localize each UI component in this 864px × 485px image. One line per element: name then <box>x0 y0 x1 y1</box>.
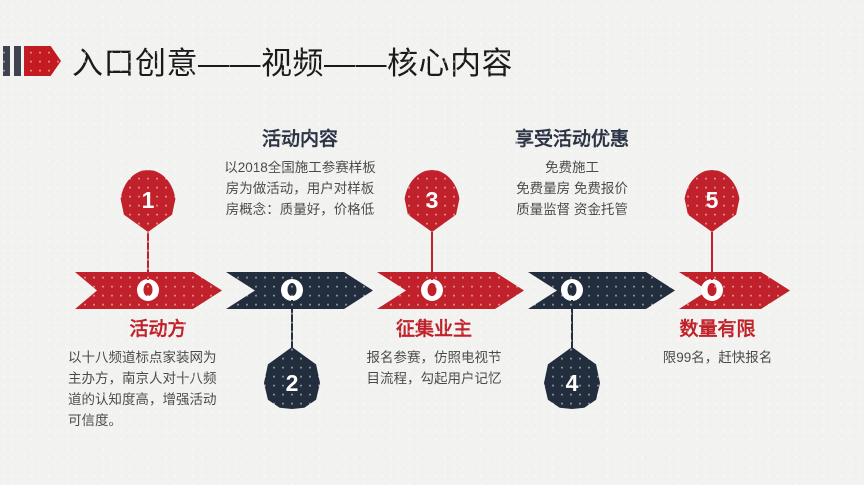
bar-marker-3-dot-icon <box>428 283 437 296</box>
pin-3-number: 3 <box>404 172 460 228</box>
pin-marker-5[interactable]: 5 <box>684 170 740 232</box>
bar-marker-4-dot-icon <box>568 283 577 296</box>
step-title-activity-content: 活动内容 <box>192 128 408 152</box>
pin-4-stem <box>571 300 573 350</box>
bar-marker-5-icon <box>701 279 723 301</box>
step-content-block-benefits: 享受活动优惠 免费施工 免费量房 免费报价 质量监督 资金托管 <box>466 128 678 221</box>
pin-marker-3[interactable]: 3 <box>404 170 460 232</box>
pin-4-number: 4 <box>544 355 600 411</box>
chevron-step-3[interactable] <box>377 272 524 309</box>
step-body-activity-content: 以2018全国施工参赛样板 房为做活动，用户对样板 房概念：质量好，价格低 <box>192 158 408 221</box>
pin-5-number: 5 <box>684 172 740 228</box>
header-red-arrow-icon <box>24 46 61 76</box>
page-header: 入口创意——视频——核心内容 <box>0 20 864 68</box>
pin-5-stem <box>711 232 713 280</box>
step-content-block-activity-content: 活动内容 以2018全国施工参赛样板 房为做活动，用户对样板 房概念：质量好，价… <box>192 128 408 221</box>
bar-marker-1-dot-icon <box>144 283 153 296</box>
step-body-recruit: 报名参赛，仿照电视节 目流程，勾起用户记忆 <box>344 348 524 390</box>
step-body-benefits: 免费施工 免费量房 免费报价 质量监督 资金托管 <box>466 158 678 221</box>
pin-2-stem <box>291 300 293 350</box>
step-title-limited: 数量有限 <box>625 318 810 342</box>
header-decor-bar-right-icon <box>14 46 21 76</box>
step-title-benefits: 享受活动优惠 <box>466 128 678 152</box>
step-title-recruit: 征集业主 <box>344 318 524 342</box>
pin-marker-4[interactable]: 4 <box>544 347 600 409</box>
pin-2-number: 2 <box>264 355 320 411</box>
pin-1-number: 1 <box>120 172 176 228</box>
page-title: 入口创意——视频——核心内容 <box>72 38 513 83</box>
bar-marker-5-dot-icon <box>708 283 717 296</box>
step-body-organizer: 以十八频道标点家装网为 主办方，南京人对十八频 道的认知度高，增强活动 可信度。 <box>68 348 248 432</box>
step-content-block-limited: 数量有限 限99名，赶快报名 <box>625 318 810 369</box>
bar-marker-1-icon <box>137 279 159 301</box>
pin-marker-2[interactable]: 2 <box>264 347 320 409</box>
bar-marker-2-icon <box>281 279 303 301</box>
step-content-block-recruit: 征集业主 报名参赛，仿照电视节 目流程，勾起用户记忆 <box>344 318 524 390</box>
bar-marker-4-icon <box>561 279 583 301</box>
step-content-block-organizer: 活动方 以十八频道标点家装网为 主办方，南京人对十八频 道的认知度高，增强活动 … <box>68 318 248 431</box>
pin-3-stem <box>431 232 433 280</box>
pin-marker-1[interactable]: 1 <box>120 170 176 232</box>
bar-marker-2-dot-icon <box>288 283 297 296</box>
pin-1-stem <box>147 232 149 280</box>
bar-marker-3-icon <box>421 279 443 301</box>
header-decor-bar-left-icon <box>3 46 10 76</box>
step-body-limited: 限99名，赶快报名 <box>625 348 810 369</box>
chevron-step-5[interactable] <box>679 272 790 309</box>
step-title-organizer: 活动方 <box>68 318 248 342</box>
chevron-step-4[interactable] <box>528 272 675 309</box>
